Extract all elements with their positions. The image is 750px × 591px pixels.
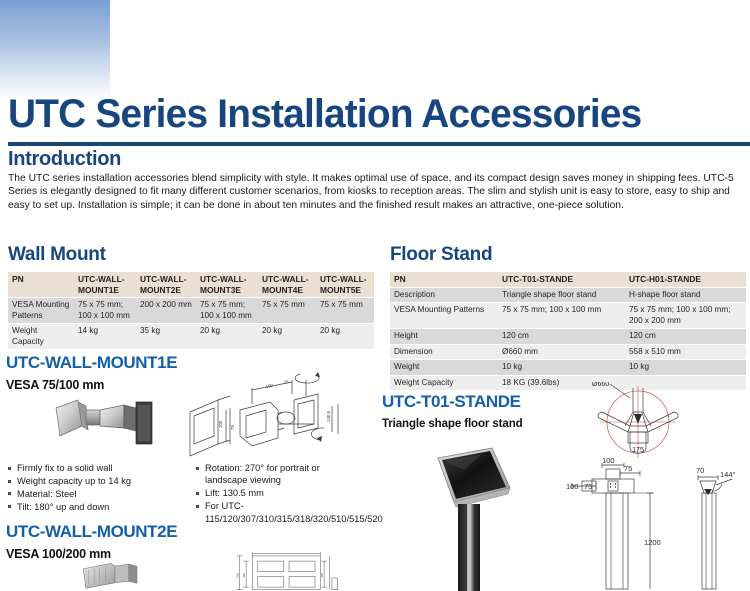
cell: 75 x 75 mm; 100 x 100 mm (498, 303, 625, 329)
svg-text:75: 75 (624, 464, 632, 473)
wall-mount-1e-feature-list-secondary: Rotation: 270° for portrait or landscape… (196, 462, 356, 526)
svg-text:75: 75 (584, 482, 592, 491)
col-pn: PN (8, 272, 74, 298)
svg-text:130.5: 130.5 (326, 410, 331, 422)
cell: 10 kg (625, 360, 746, 376)
table-row: Description Triangle shape floor stand H… (390, 287, 746, 303)
svg-text:200: 200 (235, 573, 239, 578)
list-item: For UTC-115/120/307/310/315/318/320/510/… (196, 500, 356, 525)
product-sub-floor-stand-t01: Triangle shape floor stand (382, 418, 523, 430)
product-title-floor-stand-t01: UTC-T01-STANDE (382, 392, 521, 412)
svg-text:144°: 144° (720, 470, 736, 479)
row-label: Weight Capacity (390, 375, 498, 391)
wall-mount-1e-technical-drawing: 100 75 100 75 130.5 (182, 366, 372, 464)
cell: 75 x 75 mm (258, 298, 316, 324)
list-item: Firmly fix to a solid wall (8, 462, 183, 474)
col-h01: UTC-H01-STANDE (625, 272, 746, 287)
datasheet-page: UTC Series Installation Accessories Intr… (0, 0, 750, 591)
table-row: Weight 10 kg 10 kg (390, 360, 746, 376)
title-divider (8, 142, 750, 146)
col-mount4e: UTC-WALL-MOUNT4E (258, 272, 316, 298)
product-title-wall-mount-2e: UTC-WALL-MOUNT2E (6, 522, 177, 542)
table-row: Dimension Ø660 mm 558 x 510 mm (390, 344, 746, 360)
row-label: Weight (390, 360, 498, 376)
svg-text:175: 175 (632, 447, 644, 454)
page-title-container: UTC Series Installation Accessories (8, 92, 750, 136)
row-label: Height (390, 329, 498, 345)
svg-text:100: 100 (566, 482, 579, 491)
floor-stand-front-elevation-drawing: 100 75 100 75 1200 (566, 455, 676, 591)
cell: 120 cm (625, 329, 746, 345)
cell: Triangle shape floor stand (498, 287, 625, 303)
row-label: VESA Mounting Patterns (8, 298, 74, 324)
col-mount1e: UTC-WALL-MOUNT1E (74, 272, 136, 298)
svg-text:75: 75 (283, 379, 289, 385)
svg-text:100: 100 (265, 383, 274, 389)
cell: H-shape floor stand (625, 287, 746, 303)
wall-mount-1e-feature-list: Firmly fix to a solid wall Weight capaci… (8, 462, 183, 514)
cell: 120 cm (498, 329, 625, 345)
introduction-heading: Introduction (8, 148, 121, 171)
table-row: Height 120 cm 120 cm (390, 329, 746, 345)
svg-text:Ø660: Ø660 (592, 382, 609, 388)
header-gradient-block (0, 0, 110, 100)
cell: 75 x 75 mm; 100 x 100 mm; 200 x 200 mm (625, 303, 746, 329)
cell: 20 kg (196, 324, 258, 350)
list-item: Rotation: 270° for portrait or landscape… (196, 462, 356, 487)
table-header-row: PN UTC-T01-STANDE UTC-H01-STANDE (390, 272, 746, 287)
cell: 558 x 510 mm (625, 344, 746, 360)
svg-text:100: 100 (242, 573, 246, 578)
wall-mount-1e-photo (52, 396, 162, 458)
col-mount3e: UTC-WALL-MOUNT3E (196, 272, 258, 298)
svg-text:100: 100 (320, 573, 324, 578)
cell: 14 kg (74, 324, 136, 350)
wall-mount-heading: Wall Mount (8, 244, 106, 266)
floor-stand-heading: Floor Stand (390, 244, 492, 266)
table-header-row: PN UTC-WALL-MOUNT1E UTC-WALL-MOUNT2E UTC… (8, 272, 374, 298)
product-title-wall-mount-1e: UTC-WALL-MOUNT1E (6, 353, 177, 373)
svg-text:100: 100 (602, 456, 615, 465)
table-row: Weight Capacity 18 KG (39.6lbs) (390, 375, 746, 391)
floor-stand-top-view-drawing: Ø660 175 (590, 382, 686, 462)
col-mount5e: UTC-WALL-MOUNT5E (316, 272, 374, 298)
introduction-body: The UTC series installation accessories … (8, 172, 744, 212)
floor-stand-photo (420, 444, 550, 591)
row-label: Description (390, 287, 498, 303)
cell: 35 kg (136, 324, 196, 350)
wall-mount-2e-technical-drawing: 200 200 100 100 (196, 552, 371, 591)
svg-text:70: 70 (696, 466, 704, 475)
list-item: Lift: 130.5 mm (196, 487, 356, 499)
list-item: Material: Steel (8, 488, 183, 500)
cell: 20 kg (316, 324, 374, 350)
table-row: Weight Capacity 14 kg 35 kg 20 kg 20 kg … (8, 324, 374, 350)
list-item: Weight capacity up to 14 kg (8, 475, 183, 487)
col-t01: UTC-T01-STANDE (498, 272, 625, 287)
product-vesa-wall-mount-1e: VESA 75/100 mm (6, 378, 104, 392)
cell: 20 kg (258, 324, 316, 350)
floor-stand-table: PN UTC-T01-STANDE UTC-H01-STANDE Descrip… (390, 272, 746, 391)
svg-text:75: 75 (230, 425, 235, 430)
cell: 75 x 75 mm; 100 x 100 mm (74, 298, 136, 324)
page-title: UTC Series Installation Accessories (8, 92, 728, 136)
row-label: Dimension (390, 344, 498, 360)
table-row: VESA Mounting Patterns 75 x 75 mm; 100 x… (8, 298, 374, 324)
cell: 75 x 75 mm (316, 298, 374, 324)
floor-stand-side-elevation-drawing: 70 144° (690, 455, 750, 591)
cell: 10 kg (498, 360, 625, 376)
cell: Ø660 mm (498, 344, 625, 360)
table-row: VESA Mounting Patterns 75 x 75 mm; 100 x… (390, 303, 746, 329)
cell: 75 x 75 mm; 100 x 100 mm (196, 298, 258, 324)
svg-text:1200: 1200 (644, 538, 661, 547)
svg-text:100: 100 (218, 420, 223, 428)
row-label: VESA Mounting Patterns (390, 303, 498, 329)
col-pn: PN (390, 272, 498, 287)
product-vesa-wall-mount-2e: VESA 100/200 mm (6, 547, 111, 561)
col-mount2e: UTC-WALL-MOUNT2E (136, 272, 196, 298)
list-item: Tilt: 180° up and down (8, 501, 183, 513)
cell: 200 x 200 mm (136, 298, 196, 324)
wall-mount-table: PN UTC-WALL-MOUNT1E UTC-WALL-MOUNT2E UTC… (8, 272, 374, 350)
row-label: Weight Capacity (8, 324, 74, 350)
wall-mount-2e-photo (62, 562, 172, 591)
